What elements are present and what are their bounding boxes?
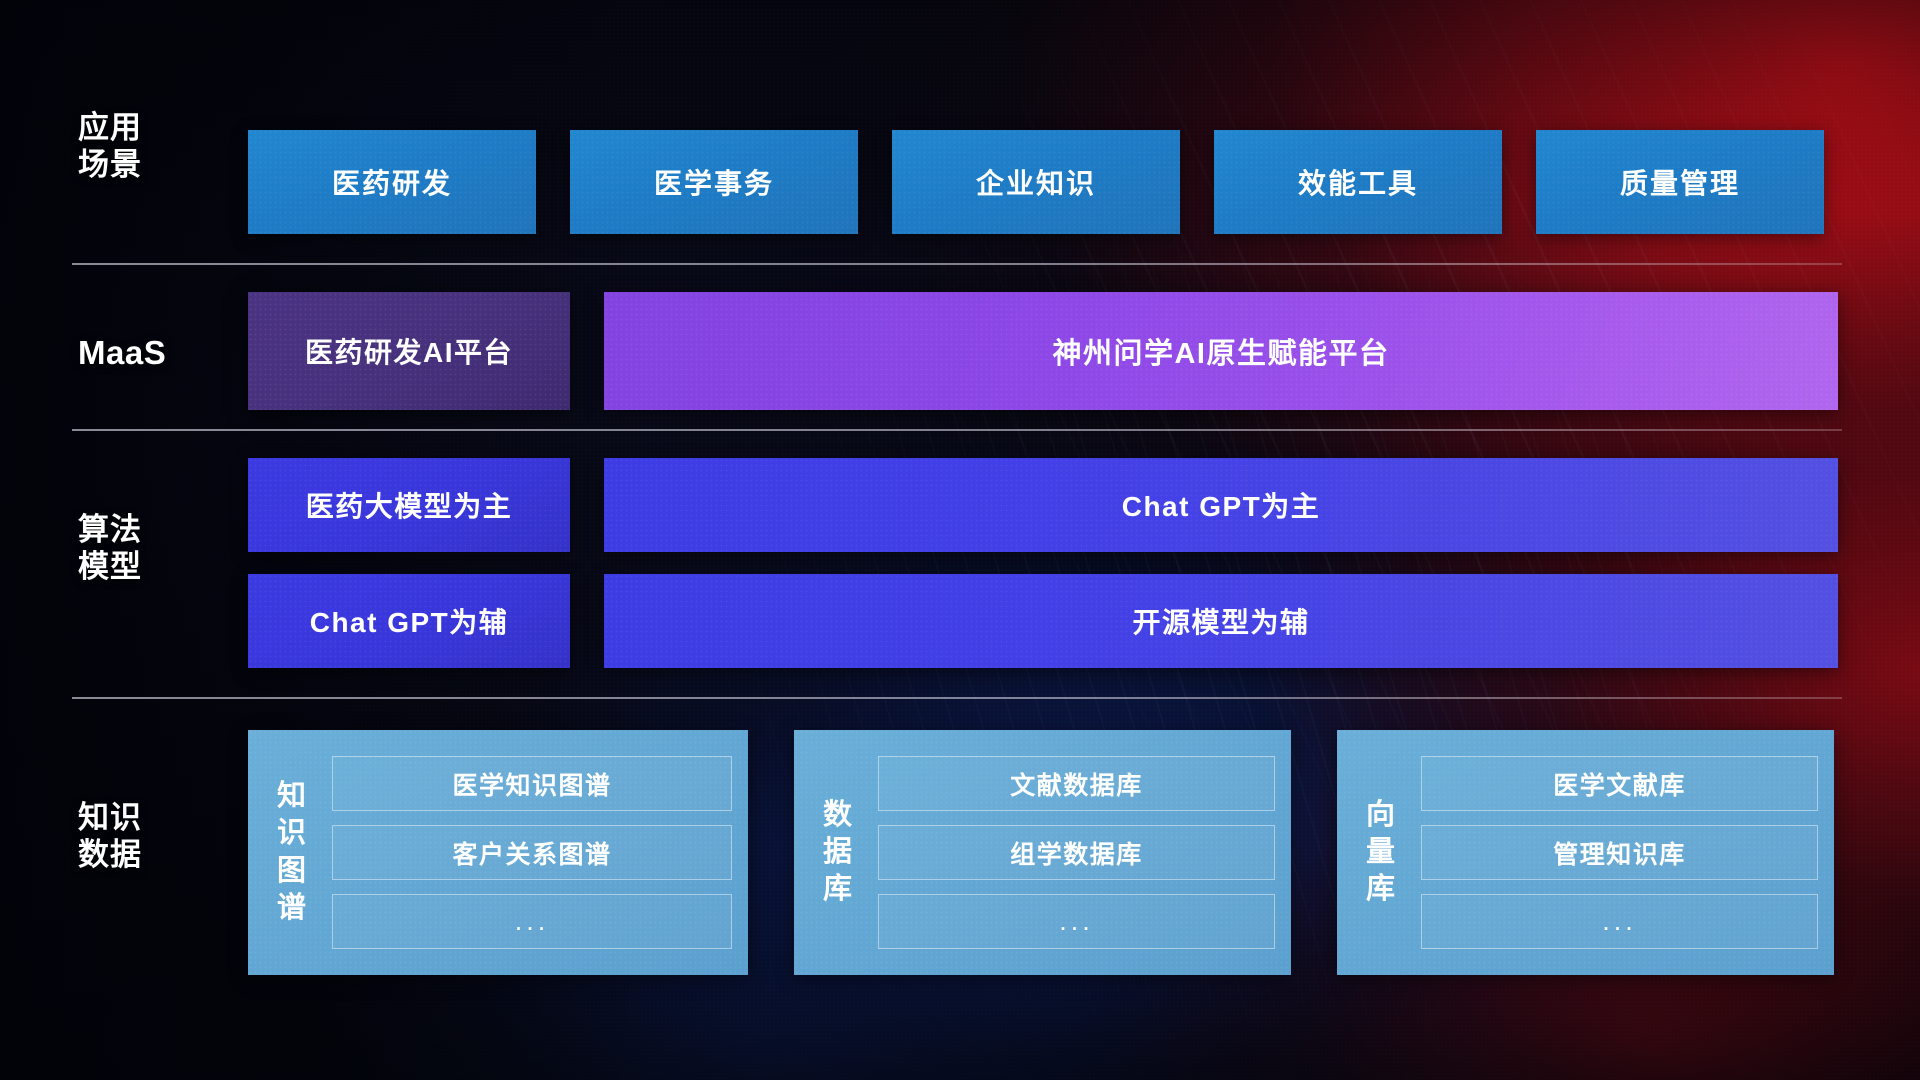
- maas-card-shenzhou-wenxue-platform[interactable]: 神州问学AI原生赋能平台: [604, 292, 1838, 410]
- algorithm-model-row-secondary: Chat GPT为辅 开源模型为辅: [248, 574, 1838, 668]
- algo-card-label: 开源模型为辅: [1132, 601, 1309, 641]
- algo-card-pharma-llm-primary[interactable]: 医药大模型为主: [248, 458, 570, 552]
- application-scenario-cards: 医药研发 医学事务 企业知识 效能工具 质量管理: [248, 130, 1824, 234]
- maas-card-pharma-ai-platform[interactable]: 医药研发AI平台: [248, 292, 570, 410]
- knowledge-card-title: 数据库: [812, 797, 864, 908]
- tier-label-knowledge-data: 知识 数据: [78, 800, 196, 873]
- divider-after-maas: [72, 429, 1842, 431]
- algo-card-label: Chat GPT为辅: [310, 601, 509, 641]
- algo-card-label: Chat GPT为主: [1122, 485, 1321, 525]
- app-card-enterprise-knowledge[interactable]: 企业知识: [892, 130, 1180, 234]
- algorithm-model-row-primary: 医药大模型为主 Chat GPT为主: [248, 458, 1838, 552]
- diagram-content: 应用 场景 医药研发 医学事务 企业知识 效能工具 质量管理 MaaS 医药研发…: [0, 0, 1920, 1080]
- app-card-efficiency-tools[interactable]: 效能工具: [1214, 130, 1502, 234]
- algo-card-label: 医药大模型为主: [306, 485, 513, 525]
- knowledge-item-omics-database[interactable]: 组学数据库: [878, 825, 1275, 880]
- knowledge-card-vector-store[interactable]: 向量库 医学文献库 管理知识库 ...: [1337, 730, 1834, 975]
- app-card-medical-rd[interactable]: 医药研发: [248, 130, 536, 234]
- knowledge-item-medical-literature-store[interactable]: 医学文献库: [1421, 756, 1818, 811]
- knowledge-item-more[interactable]: ...: [1421, 894, 1818, 949]
- knowledge-card-title: 向量库: [1355, 797, 1407, 908]
- knowledge-item-more[interactable]: ...: [332, 894, 732, 949]
- app-card-label: 效能工具: [1298, 162, 1418, 202]
- knowledge-item-medical-knowledge-graph[interactable]: 医学知识图谱: [332, 756, 732, 811]
- knowledge-item-management-knowledge-store[interactable]: 管理知识库: [1421, 825, 1818, 880]
- knowledge-card-items: 文献数据库 组学数据库 ...: [878, 756, 1275, 949]
- knowledge-data-cards: 知识图谱 医学知识图谱 客户关系图谱 ... 数据库 文献数据库 组学数据库 .…: [248, 730, 1834, 975]
- knowledge-card-database[interactable]: 数据库 文献数据库 组学数据库 ...: [794, 730, 1291, 975]
- algorithm-model-rows: 医药大模型为主 Chat GPT为主 Chat GPT为辅 开源模型为辅: [248, 458, 1838, 668]
- maas-card-label: 神州问学AI原生赋能平台: [1052, 330, 1389, 372]
- app-card-label: 医药研发: [332, 162, 452, 202]
- app-card-label: 医学事务: [654, 162, 774, 202]
- knowledge-card-title: 知识图谱: [266, 778, 318, 926]
- app-card-label: 企业知识: [976, 162, 1096, 202]
- app-card-label: 质量管理: [1620, 162, 1740, 202]
- knowledge-item-more[interactable]: ...: [878, 894, 1275, 949]
- diagram-stage: 应用 场景 医药研发 医学事务 企业知识 效能工具 质量管理 MaaS 医药研发…: [0, 0, 1920, 1080]
- algo-card-opensource-secondary[interactable]: 开源模型为辅: [604, 574, 1838, 668]
- tier-label-maas: MaaS: [78, 334, 196, 373]
- algo-card-chatgpt-primary[interactable]: Chat GPT为主: [604, 458, 1838, 552]
- knowledge-card-items: 医学文献库 管理知识库 ...: [1421, 756, 1818, 949]
- knowledge-item-literature-database[interactable]: 文献数据库: [878, 756, 1275, 811]
- app-card-quality-management[interactable]: 质量管理: [1536, 130, 1824, 234]
- maas-card-label: 医药研发AI平台: [305, 331, 513, 371]
- divider-after-application-scenarios: [72, 263, 1842, 265]
- tier-label-algorithm-model: 算法 模型: [78, 512, 196, 585]
- maas-cards: 医药研发AI平台 神州问学AI原生赋能平台: [248, 292, 1838, 410]
- knowledge-card-knowledge-graph[interactable]: 知识图谱 医学知识图谱 客户关系图谱 ...: [248, 730, 748, 975]
- algo-card-chatgpt-secondary[interactable]: Chat GPT为辅: [248, 574, 570, 668]
- divider-after-algorithm-model: [72, 697, 1842, 699]
- knowledge-card-items: 医学知识图谱 客户关系图谱 ...: [332, 756, 732, 949]
- knowledge-item-customer-relation-graph[interactable]: 客户关系图谱: [332, 825, 732, 880]
- app-card-medical-affairs[interactable]: 医学事务: [570, 130, 858, 234]
- tier-label-application-scenarios: 应用 场景: [78, 110, 196, 183]
